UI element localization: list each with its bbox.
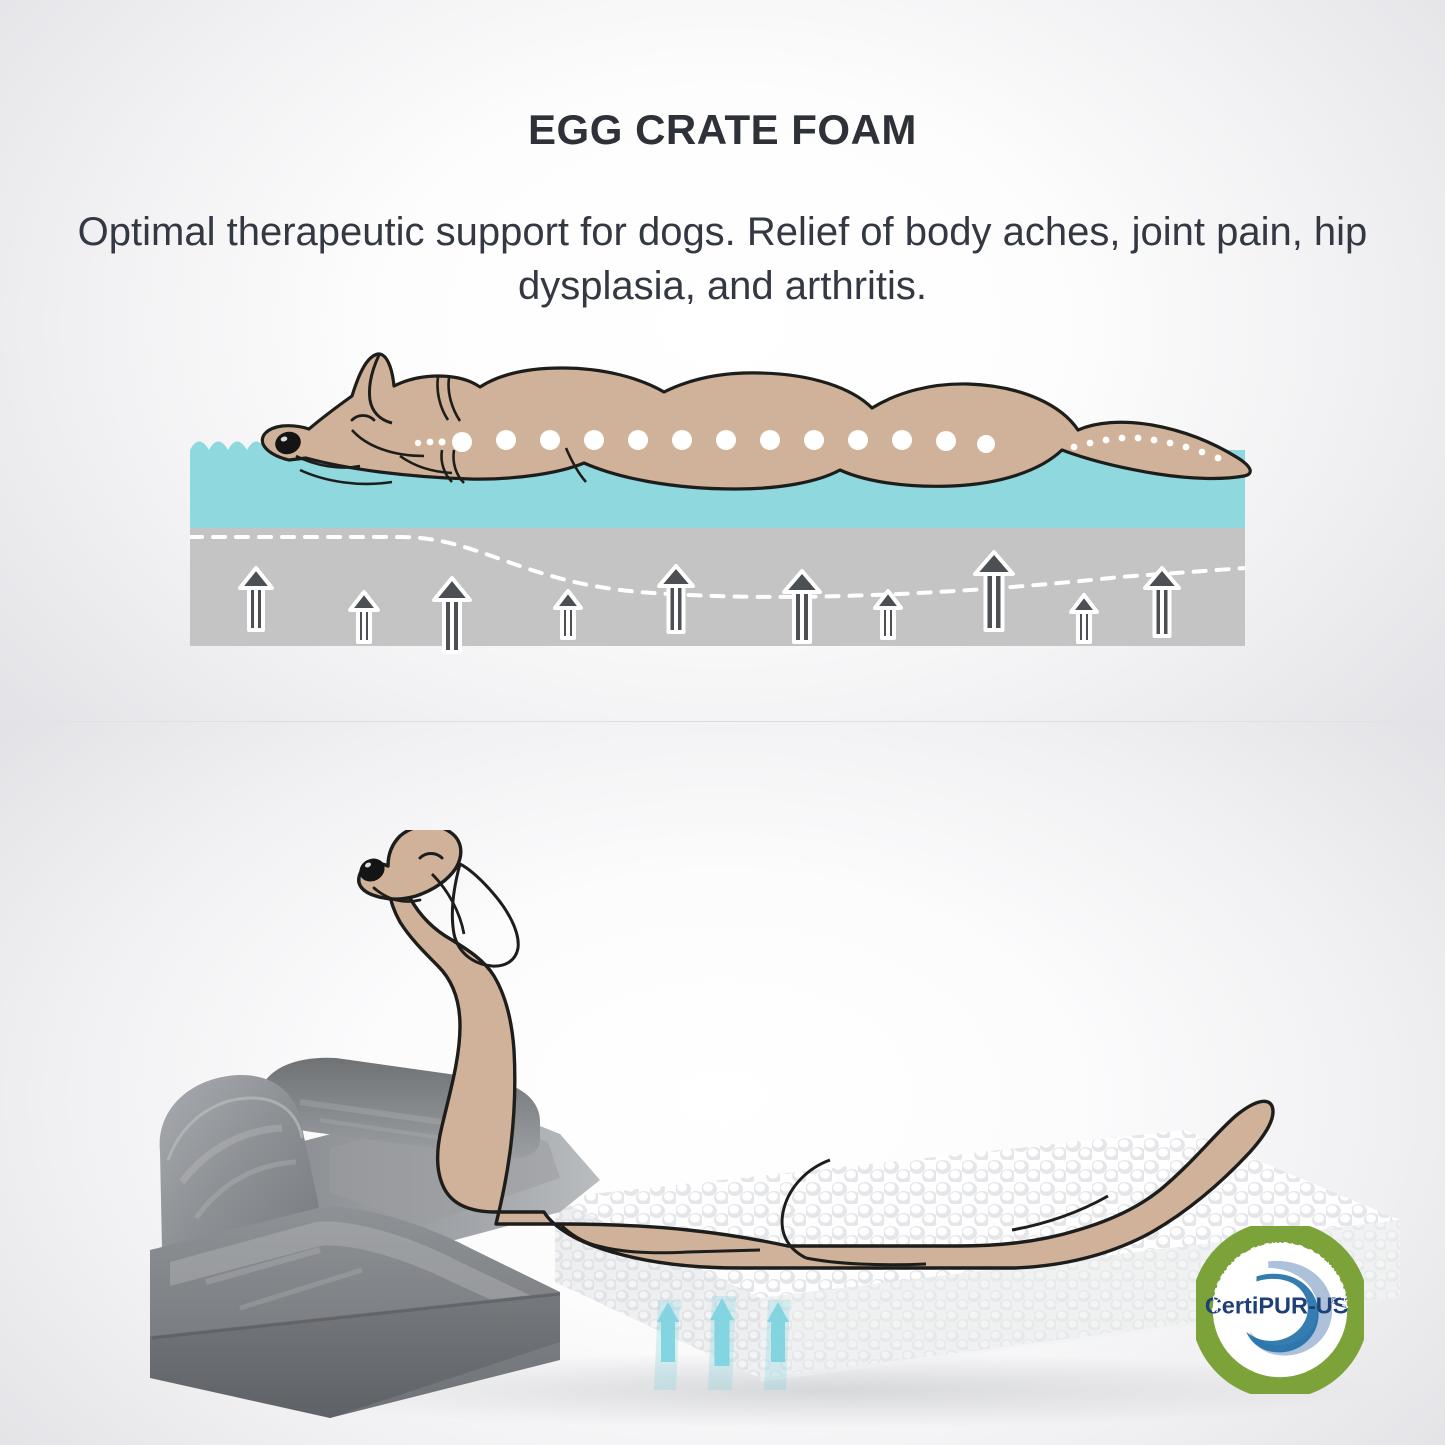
airflow-trail bbox=[708, 1296, 736, 1390]
certipur-us-badge: CertiPUR-US ® CONTAINS CERTIFIED FLEXIBL… bbox=[1196, 1226, 1364, 1394]
panel-top-title: EGG CRATE FOAM bbox=[0, 106, 1445, 154]
badge-wordmark: CertiPUR-US ® bbox=[1205, 1292, 1349, 1318]
dog-ear bbox=[452, 864, 518, 966]
infographic-page: EGG CRATE FOAM Optimal therapeutic suppo… bbox=[0, 0, 1445, 1445]
badge-registered-mark: ® bbox=[1330, 1295, 1337, 1305]
panel-top-subtitle: Optimal therapeutic support for dogs. Re… bbox=[63, 205, 1383, 314]
bolster-bed bbox=[150, 1058, 600, 1418]
airflow-trail bbox=[764, 1300, 790, 1390]
airflow-arrows-group bbox=[654, 1296, 790, 1390]
dog-on-foam-cross-section-diagram bbox=[0, 330, 1445, 690]
airflow-trail bbox=[654, 1300, 680, 1390]
badge-brand-text: CertiPUR-US bbox=[1205, 1292, 1349, 1318]
